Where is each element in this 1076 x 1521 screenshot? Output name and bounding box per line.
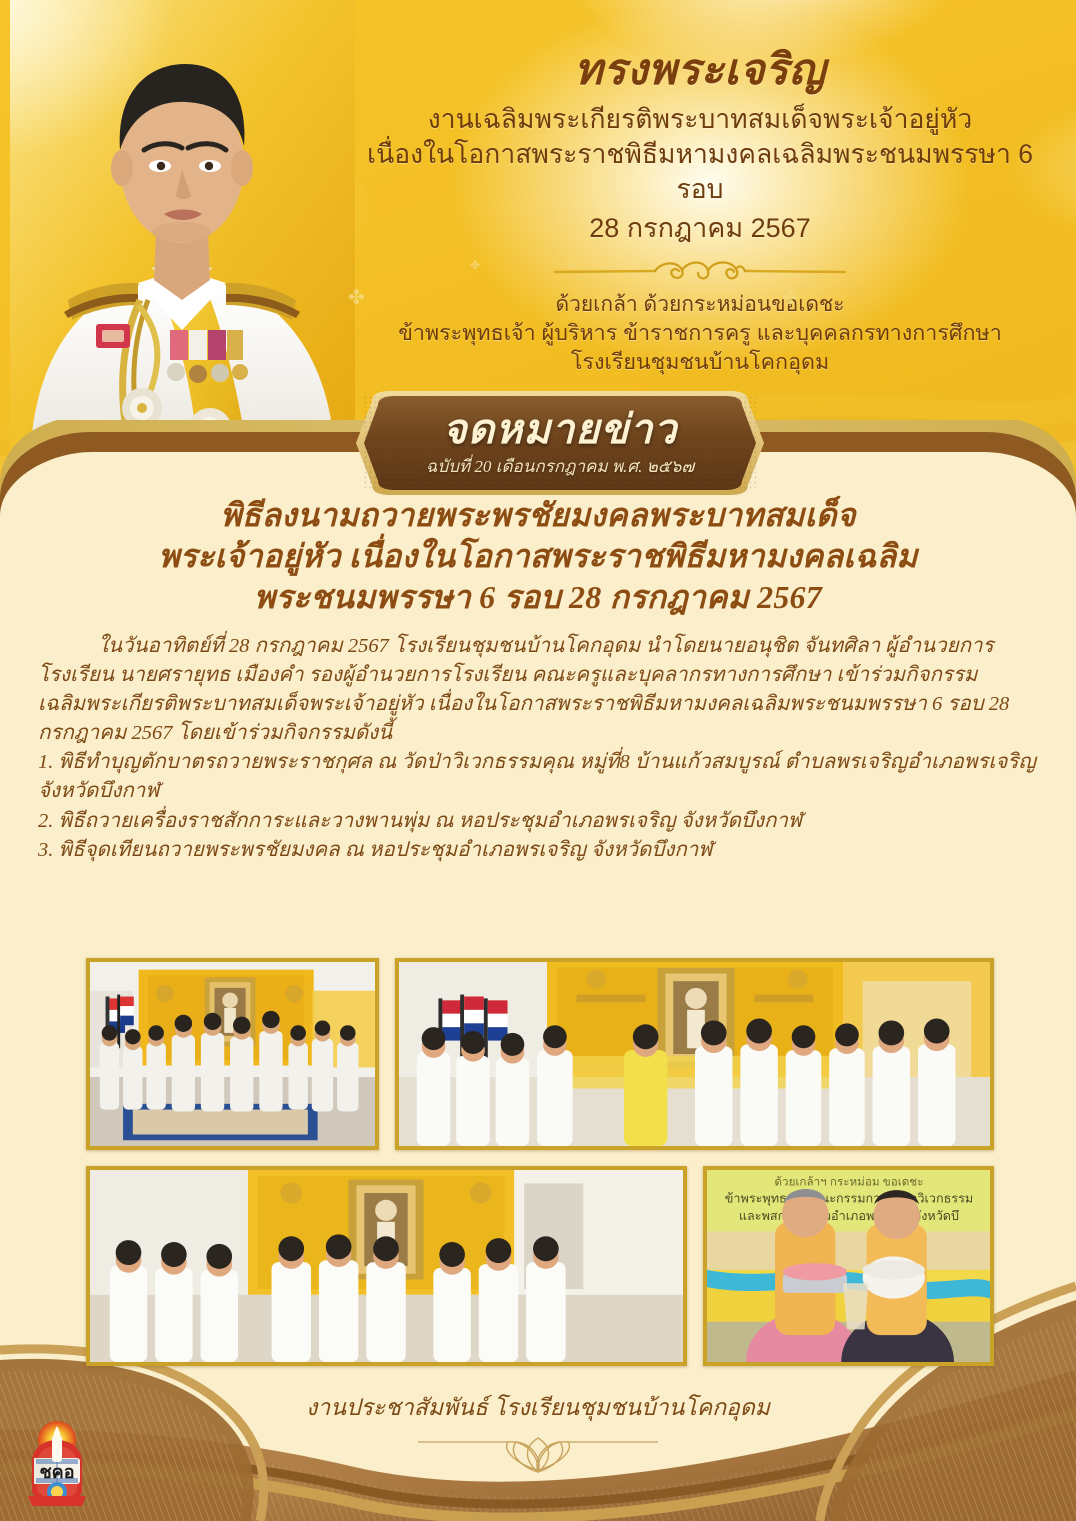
lotus-divider-icon [408,1430,668,1478]
activity-item-2: 2. พิธีถวายเครื่องราชสักการะและวางพานพุ่… [38,807,1038,836]
king-portrait [10,0,355,470]
article-title-line-2: พระเจ้าอยู่หัว เนื่องในโอกาสพระราชพิธีมห… [26,536,1050,577]
photo-gallery: ด้วยเกล้าฯ กระหม่อม ขอเดชะ ข้าพระพุทธเจ้… [86,958,994,1366]
photo-group-ceremony-hall [86,958,379,1150]
sparkle-decoration-small-b: ✤ [566,258,576,272]
sparkle-decoration-small-a: ✤ [470,258,480,272]
svg-text:และพสกนิกรชาวอำเภอพรเจริญ จัง: และพสกนิกรชาวอำเภอพรเจริญ จังหวัดบึ [739,1209,959,1223]
activity-list: 1. พิธีทำบุญตักบาตรถวายพระราชกุศล ณ วัดป… [38,748,1038,864]
activity-item-3: 3. พิธีจุดเทียนถวายพระพรชัยมงคล ณ หอประช… [38,836,1038,865]
footer-credit: งานประชาสัมพันธ์ โรงเรียนชุมชนบ้านโคกอุด… [0,1390,1076,1426]
photo-group-white-uniform [86,1166,687,1366]
dedication-line2: ข้าพระพุทธเจ้า ผู้บริหาร ข้าราชการครู แล… [350,319,1050,348]
header-text-block: ทรงพระเจริญ งานเฉลิมพระเกียรติพระบาทสมเด… [350,46,1050,377]
newsletter-ribbon: จดหมายข่าว ฉบับที่ 20 เดือนกรกฎาคม พ.ศ. … [354,391,766,495]
footer: งานประชาสัมพันธ์ โรงเรียนชุมชนบ้านโคกอุด… [0,1390,1076,1478]
article-title-line-1: พิธีลงนามถวายพระพรชัยมงคลพระบาทสมเด็จ [26,495,1050,536]
photo-alms-offering: ด้วยเกล้าฯ กระหม่อม ขอเดชะ ข้าพระพุทธเจ้… [703,1166,994,1366]
sparkle-decoration-small-c: ✤ [640,258,650,272]
article-body: ในวันอาทิตย์ที่ 28 กรกฎาคม 2567 โรงเรียน… [26,632,1050,865]
header-subtitle-line2: เนื่องในโอกาสพระราชพิธีมหามงคลเฉลิมพระชน… [350,137,1050,207]
header-date: 28 กรกฎาคม 2567 [350,209,1050,248]
article-paragraph: ในวันอาทิตย์ที่ 28 กรกฎาคม 2567 โรงเรียน… [38,632,1038,748]
sparkle-decoration-left: ✤ [348,285,365,310]
overlay-text-line1: ด้วยเกล้าฯ กระหม่อม ขอเดชะ [774,1175,923,1188]
ribbon-subtitle: ฉบับที่ 20 เดือนกรกฎาคม พ.ศ. ๒๕๖๗ [426,458,694,475]
school-logo: ชคอ [18,1418,96,1510]
svg-text:ข้าพระพุทธเจ้า คณะกรรมการวัดป: ข้าพระพุทธเจ้า คณะกรรมการวัดป่าวิเวกธรรม [725,1192,973,1207]
dedication-line1: ด้วยเกล้า ด้วยกระหม่อนขอเดชะ [350,291,1050,319]
article-title: พิธีลงนามถวายพระพรชัยมงคลพระบาทสมเด็จ พร… [26,495,1050,618]
logo-text: ชคอ [39,1462,74,1482]
ribbon-title: จดหมายข่าว [443,409,678,450]
article-title-line-3: พระชนมพรรษา 6 รอบ 28 กรกฎาคม 2567 [26,577,1050,618]
activity-item-1: 1. พิธีทำบุญตักบาตรถวายพระราชกุศล ณ วัดป… [38,748,1038,806]
photo-group-flags-stage [395,958,994,1150]
flourish-divider-icon [550,255,850,285]
sparkle-decoration-right: ✤ [782,285,799,310]
dedication-line3: โรงเรียนชุมชนบ้านโคกอุดม [350,348,1050,377]
newsletter-poster: ทรงพระเจริญ งานเฉลิมพระเกียรติพระบาทสมเด… [0,0,1076,1521]
header-subtitle-line1: งานเฉลิมพระเกียรติพระบาทสมเด็จพระเจ้าอยู… [350,102,1050,137]
royal-greeting: ทรงพระเจริญ [350,46,1050,97]
